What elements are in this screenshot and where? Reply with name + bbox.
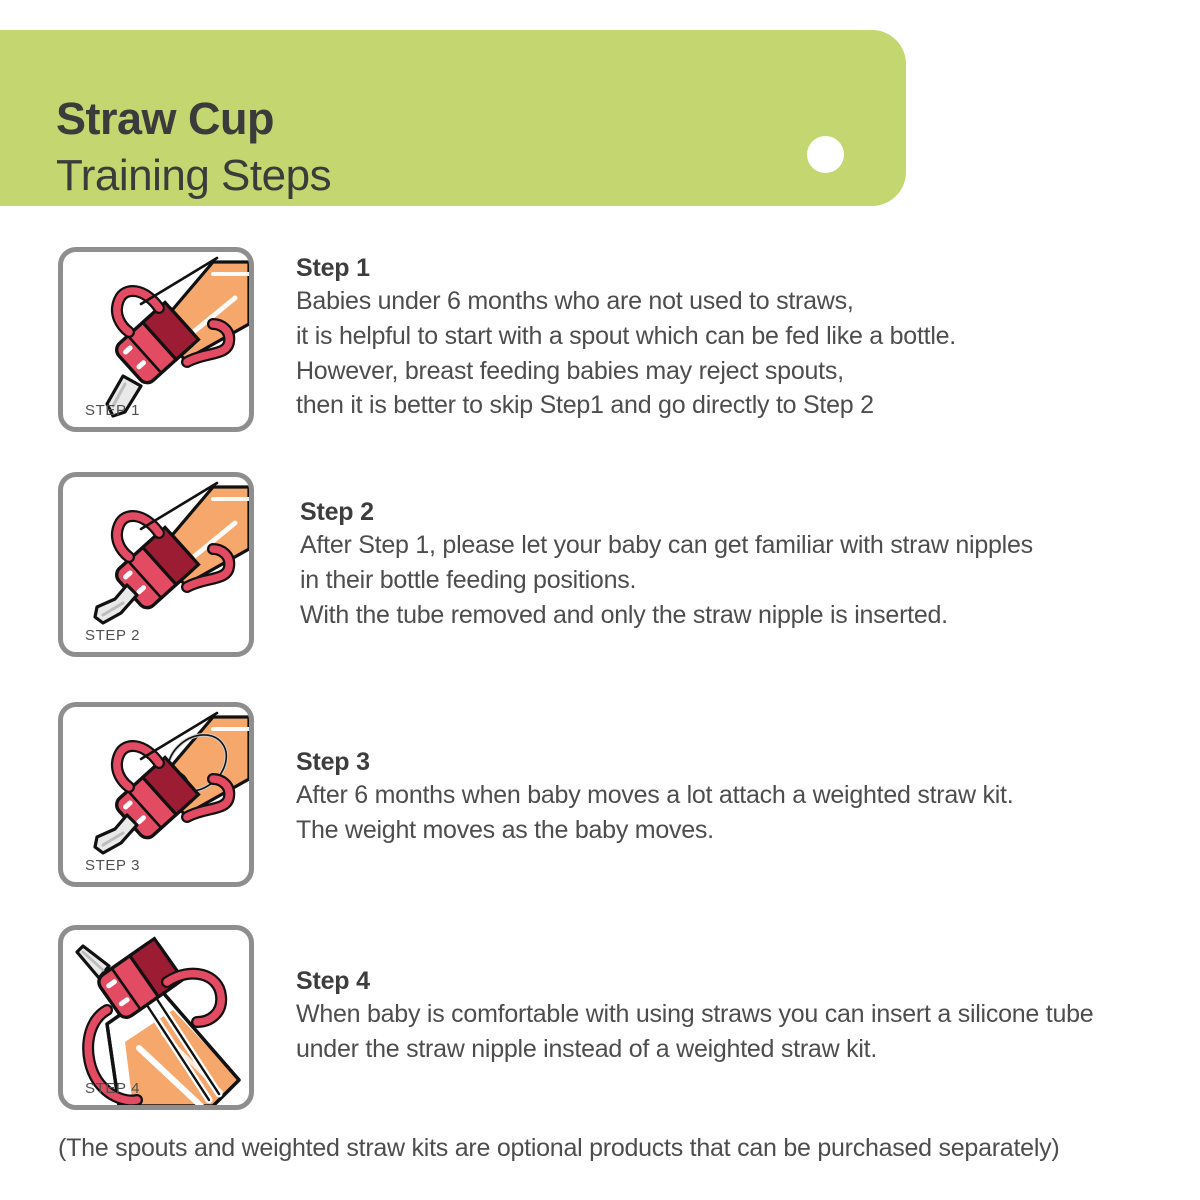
step-body-line: After Step 1, please let your baby can g… — [300, 528, 1150, 563]
step-illustration-box-4: STEP 4 — [58, 925, 254, 1110]
page-subtitle: Training Steps — [56, 154, 331, 198]
step-body-line: After 6 months when baby moves a lot att… — [296, 778, 1146, 813]
step-text-3: Step 3 After 6 months when baby moves a … — [296, 746, 1146, 848]
step-heading-3: Step 3 — [296, 746, 1146, 778]
spout-bottle-illustration-icon — [63, 252, 249, 427]
header-banner: Straw Cup Training Steps — [0, 30, 906, 206]
step-box-label-3: STEP 3 — [85, 857, 140, 874]
step-box-label-4: STEP 4 — [85, 1080, 140, 1097]
step-body-line: then it is better to skip Step1 and go d… — [296, 388, 1146, 423]
straw-nipple-bottle-illustration-icon — [63, 477, 249, 652]
step-body-line: in their bottle feeding positions. — [300, 563, 1150, 598]
silicone-tube-bottle-illustration-icon — [63, 930, 249, 1105]
step-body-line: With the tube removed and only the straw… — [300, 598, 1150, 633]
step-box-label-1: STEP 1 — [85, 402, 140, 419]
step-illustration-box-2: STEP 2 — [58, 472, 254, 657]
step-body-line: it is helpful to start with a spout whic… — [296, 319, 1146, 354]
step-body-line: The weight moves as the baby moves. — [296, 813, 1146, 848]
page-title: Straw Cup — [56, 96, 274, 141]
step-illustration-box-3: STEP 3 — [58, 702, 254, 887]
step-text-4: Step 4 When baby is comfortable with usi… — [296, 965, 1146, 1067]
step-body-line: Babies under 6 months who are not used t… — [296, 284, 1146, 319]
step-body-line: However, breast feeding babies may rejec… — [296, 354, 1146, 389]
step-body-line: When baby is comfortable with using stra… — [296, 997, 1146, 1032]
step-heading-2: Step 2 — [300, 496, 1150, 528]
step-text-2: Step 2 After Step 1, please let your bab… — [300, 496, 1150, 632]
step-heading-1: Step 1 — [296, 252, 1146, 284]
step-text-1: Step 1 Babies under 6 months who are not… — [296, 252, 1146, 423]
footnote-text: (The spouts and weighted straw kits are … — [58, 1134, 1059, 1163]
step-body-line: under the straw nipple instead of a weig… — [296, 1032, 1146, 1067]
step-box-label-2: STEP 2 — [85, 627, 140, 644]
step-heading-4: Step 4 — [296, 965, 1146, 997]
weighted-straw-kit-illustration-icon — [63, 707, 249, 882]
step-illustration-box-1: STEP 1 — [58, 247, 254, 432]
punch-hole-icon — [807, 136, 844, 173]
